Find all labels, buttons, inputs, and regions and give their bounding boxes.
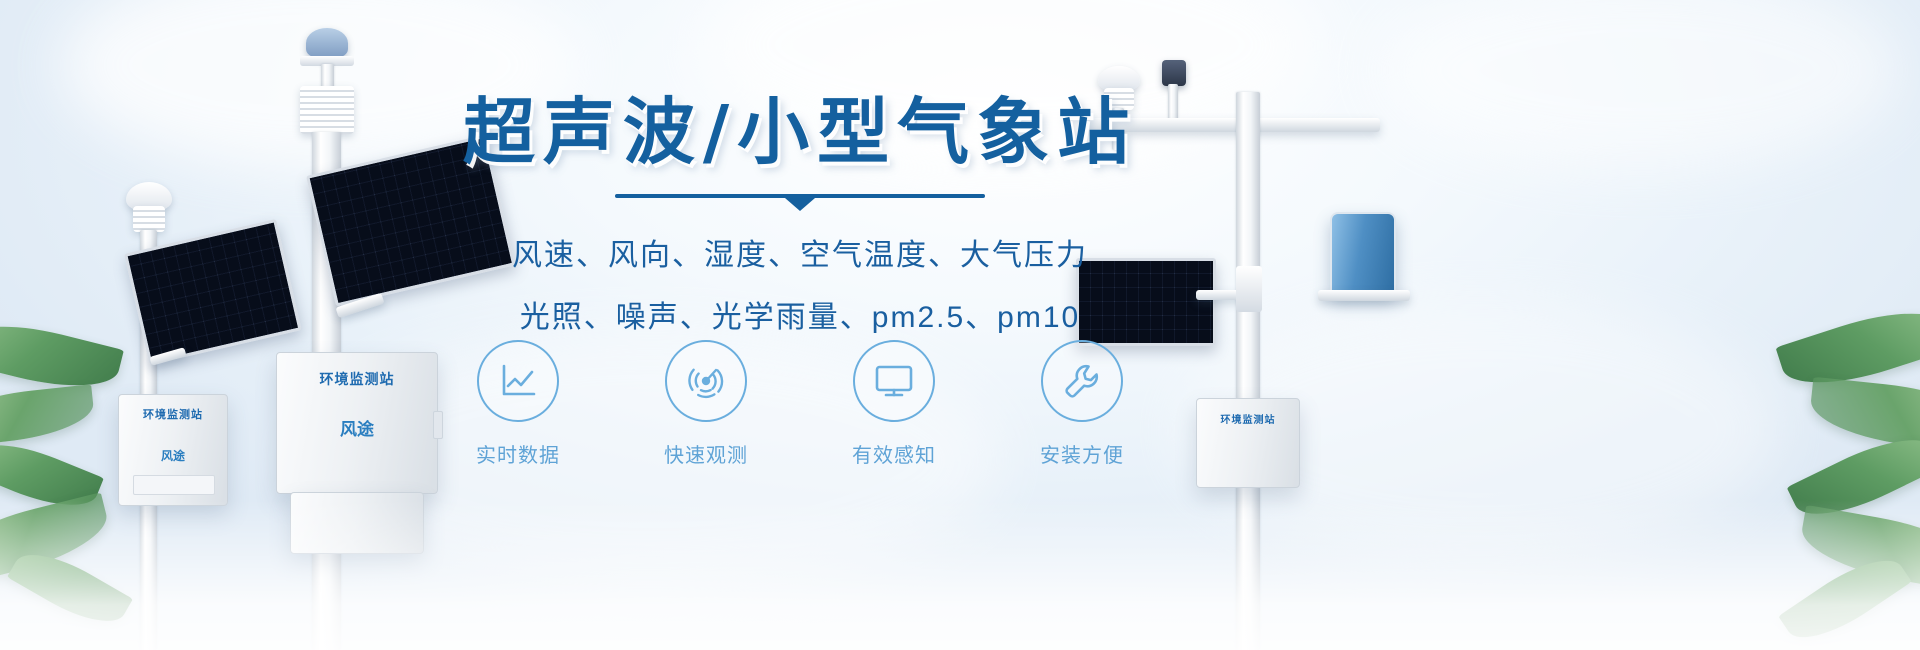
enclosure-cabinet: 环境监测站 bbox=[1196, 398, 1300, 488]
feature-item-fast-observation[interactable]: 快速观测 bbox=[641, 340, 771, 468]
cabinet-brand: 风途 bbox=[277, 415, 437, 440]
line-chart-icon bbox=[498, 362, 538, 400]
radiation-shield-stack bbox=[300, 86, 354, 134]
feature-icon-ring bbox=[477, 340, 559, 422]
monitor-screen-icon bbox=[873, 363, 915, 399]
rain-gauge bbox=[1330, 212, 1396, 296]
product-banner: 环境监测站 风途 环境监测站 风途 bbox=[0, 0, 1920, 650]
feature-label: 实时数据 bbox=[453, 439, 583, 468]
wrench-icon bbox=[1061, 360, 1103, 402]
ground-haze bbox=[0, 500, 1920, 650]
feature-label: 快速观测 bbox=[641, 439, 771, 468]
cabinet-label: 环境监测站 bbox=[1197, 411, 1299, 426]
feature-icon-ring bbox=[853, 340, 935, 422]
feature-label: 安装方便 bbox=[1017, 439, 1147, 468]
cabinet-vent bbox=[133, 475, 215, 495]
feature-item-effective-sensing[interactable]: 有效感知 bbox=[829, 340, 959, 468]
feature-item-realtime-data[interactable]: 实时数据 bbox=[453, 340, 583, 468]
feature-list: 实时数据 快速观测 bbox=[420, 340, 1180, 468]
feature-label: 有效感知 bbox=[829, 439, 959, 468]
page-title: 超声波/小型气象站 bbox=[420, 96, 1180, 168]
enclosure-cabinet: 环境监测站 风途 bbox=[276, 352, 438, 494]
cabinet-label: 环境监测站 bbox=[119, 406, 227, 422]
rain-gauge-shelf bbox=[1318, 290, 1410, 301]
leaf bbox=[0, 384, 96, 447]
chevron-down-icon bbox=[785, 198, 815, 211]
feature-icon-ring bbox=[665, 340, 747, 422]
cabinet-label: 环境监测站 bbox=[277, 369, 437, 389]
cloud-decoration bbox=[1380, 0, 1900, 170]
subtitle-line-1: 风速、风向、湿度、空气温度、大气压力 bbox=[420, 230, 1180, 274]
camera-sensor-icon bbox=[1162, 60, 1186, 86]
cabinet-brand: 风途 bbox=[119, 447, 227, 464]
radar-signal-icon bbox=[685, 360, 727, 402]
mast-bracket bbox=[1236, 266, 1262, 312]
title-divider bbox=[615, 194, 985, 208]
feature-icon-ring bbox=[1041, 340, 1123, 422]
enclosure-cabinet: 环境监测站 风途 bbox=[118, 394, 228, 506]
sensor-stack bbox=[133, 206, 165, 232]
banner-copy: 超声波/小型气象站 风速、风向、湿度、空气温度、大气压力 光照、噪声、光学雨量、… bbox=[420, 96, 1180, 336]
feature-item-easy-installation[interactable]: 安装方便 bbox=[1017, 340, 1147, 468]
ultrasonic-sensor-head bbox=[306, 28, 348, 58]
subtitle-line-2: 光照、噪声、光学雨量、pm2.5、pm10 bbox=[420, 292, 1180, 336]
